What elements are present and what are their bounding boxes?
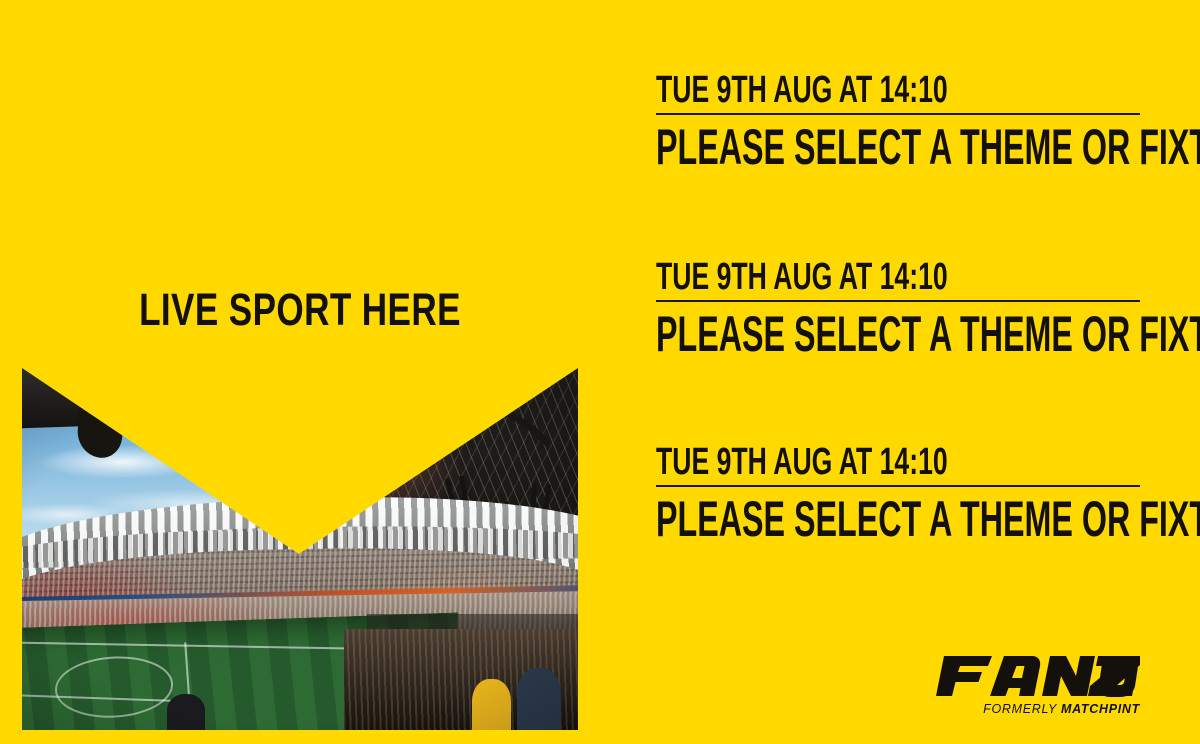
listing-action-prompt[interactable]: PLEASE SELECT A THEME OR FIXTURES — [656, 308, 968, 360]
listing-divider — [656, 485, 1140, 487]
listing-date: TUE 9TH AUG AT 14:10 — [656, 257, 995, 297]
listing-date: TUE 9TH AUG AT 14:10 — [656, 70, 995, 110]
listing-date: TUE 9TH AUG AT 14:10 — [656, 442, 995, 482]
logo-tagline: FORMERLY MATCHPINT — [983, 702, 1140, 716]
listing-divider — [656, 300, 1140, 302]
listing-item[interactable]: TUE 9TH AUG AT 14:10 PLEASE SELECT A THE… — [656, 70, 1140, 173]
fanzo-wordmark-icon — [920, 652, 1140, 700]
stadium-photo — [22, 368, 578, 730]
listing-action-prompt[interactable]: PLEASE SELECT A THEME OR FIXTURES — [656, 121, 968, 173]
listing-action-prompt[interactable]: PLEASE SELECT A THEME OR FIXTURES — [656, 493, 968, 545]
logo-tagline-brand: MATCHPINT — [1061, 702, 1140, 716]
listing-item[interactable]: TUE 9TH AUG AT 14:10 PLEASE SELECT A THE… — [656, 442, 1140, 545]
listing-item[interactable]: TUE 9TH AUG AT 14:10 PLEASE SELECT A THE… — [656, 257, 1140, 360]
signage-screen: LIVE SPORT HERE — [0, 0, 1200, 744]
listing-divider — [656, 113, 1140, 115]
live-sport-here-headline: LIVE SPORT HERE — [66, 287, 534, 332]
logo-tagline-prefix: FORMERLY — [983, 702, 1057, 716]
fixtures-list: TUE 9TH AUG AT 14:10 PLEASE SELECT A THE… — [656, 0, 1140, 744]
fanzo-logo: FORMERLY MATCHPINT — [920, 652, 1140, 728]
left-panel: LIVE SPORT HERE — [0, 0, 600, 744]
